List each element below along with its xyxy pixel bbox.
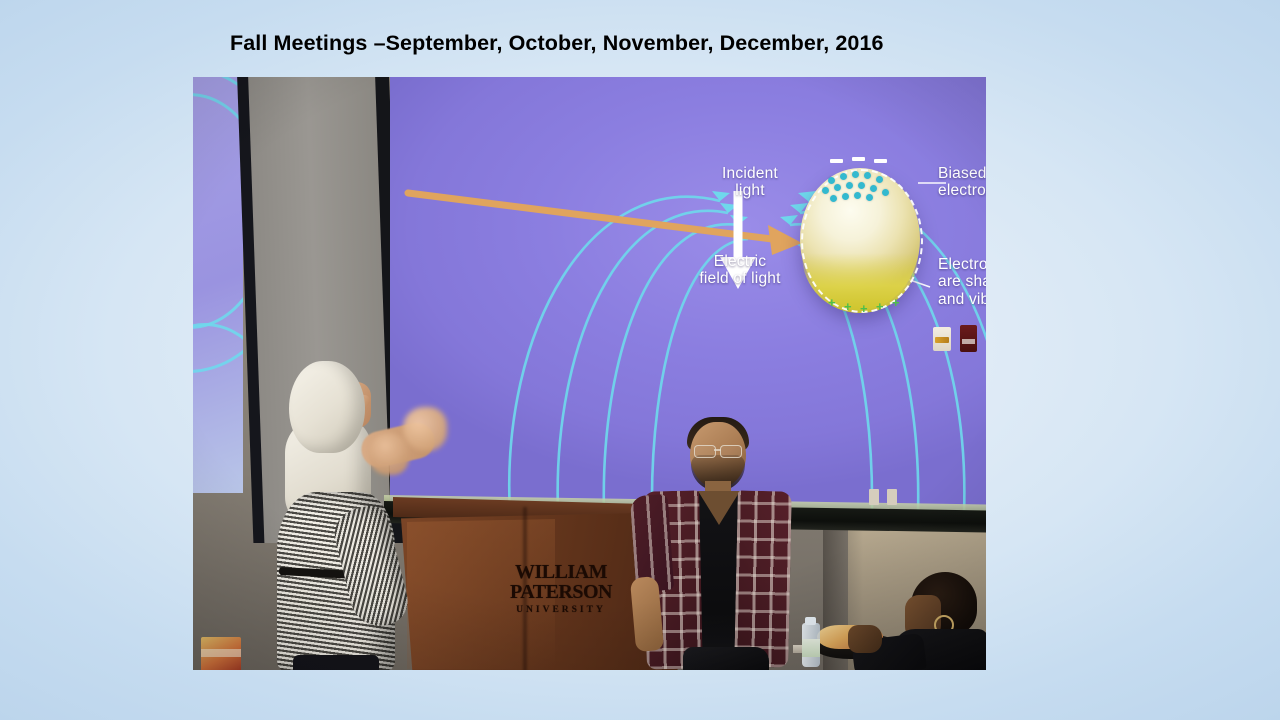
fire-alarm-label — [962, 339, 975, 344]
glasses-icon — [720, 445, 742, 458]
logo-line-2: PATERSON — [481, 582, 641, 603]
wall-outlet-icon — [887, 489, 897, 505]
electron-dot — [842, 193, 849, 200]
water-bottle-label — [802, 639, 820, 657]
slide-label-shaken-electrons: Electronsare shakenand vibrated — [938, 256, 986, 308]
electron-dot — [830, 195, 837, 202]
logo-line-1: WILLIAM — [481, 562, 641, 582]
water-bottle-cap — [805, 617, 816, 625]
electron-dot — [840, 173, 847, 180]
slide-label-incident-light: Incidentlight — [675, 165, 825, 200]
electron-dot — [864, 172, 871, 179]
electron-dot — [866, 194, 873, 201]
presenter-left-hijab — [289, 361, 365, 453]
attendee-hand — [848, 625, 882, 653]
electron-dot — [846, 182, 853, 189]
electron-dot — [828, 177, 835, 184]
university-logo: WILLIAM PATERSON UNIVERSITY — [481, 562, 641, 618]
incident-light-arrow — [408, 193, 802, 255]
electron-dot — [876, 176, 883, 183]
presenter-right-plaid-shirt-right — [734, 490, 792, 667]
presenter-left-hand — [369, 433, 409, 475]
positive-charge-symbol: + — [876, 299, 884, 314]
positive-charge-symbol: + — [828, 295, 836, 310]
negative-charge-symbol — [852, 157, 865, 161]
cardboard-box-label — [201, 649, 241, 657]
slide-title: Fall Meetings –September, October, Novem… — [230, 31, 1130, 56]
wall-outlet-icon — [869, 489, 879, 505]
presentation-photo[interactable]: + + + + + Incidentlight Electricfield of… — [193, 77, 986, 670]
electron-dot — [852, 171, 859, 178]
electron-dot — [834, 184, 841, 191]
positive-charge-symbol: + — [844, 299, 852, 314]
positive-charge-symbol: + — [860, 301, 868, 316]
slide-label-electric-field: Electricfield of light — [645, 253, 835, 288]
glasses-bridge — [714, 449, 721, 451]
presenter-left-legs — [293, 655, 379, 670]
wall-light-lens — [935, 337, 949, 343]
negative-charge-symbol — [830, 159, 843, 163]
electron-dot — [870, 185, 877, 192]
presentation-slide: Fall Meetings –September, October, Novem… — [0, 0, 1280, 720]
negative-charge-symbol — [874, 159, 887, 163]
electron-dot — [858, 182, 865, 189]
electron-dot — [882, 189, 889, 196]
positive-charge-symbol: + — [892, 295, 900, 310]
equipment-bag — [683, 647, 769, 670]
secondary-projection-screen — [193, 77, 243, 493]
electron-dot — [854, 192, 861, 199]
logo-line-3: UNIVERSITY — [481, 603, 641, 618]
slide-label-biased-electrons: Biased freeelectrons — [938, 165, 986, 200]
presenter-left-hand — [403, 407, 447, 451]
glasses-icon — [694, 445, 716, 458]
